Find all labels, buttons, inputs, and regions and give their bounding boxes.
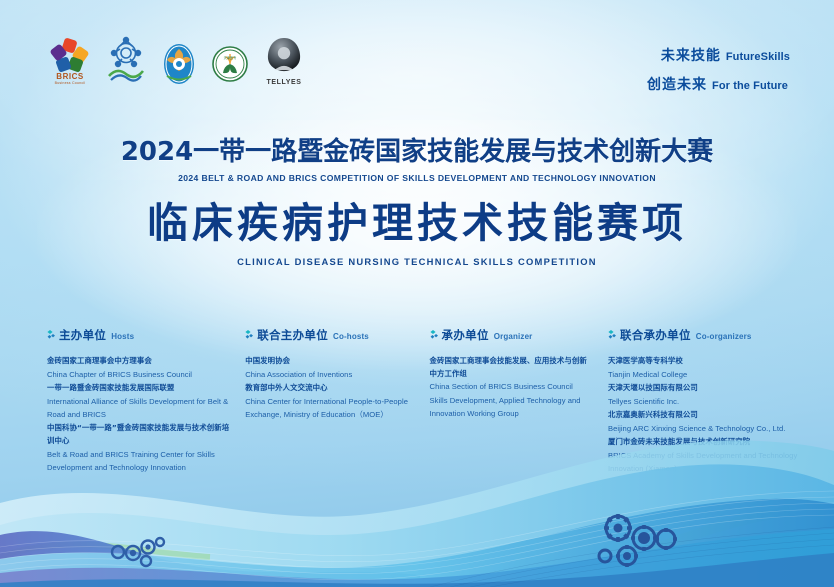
slogan-line-2: 创造未来For the Future	[647, 73, 790, 97]
organizer-heading-en: Hosts	[111, 332, 134, 341]
organizer-name-en: China Chapter of BRICS Business Council	[47, 368, 229, 381]
brics-logo-text: BRICS	[48, 73, 92, 81]
china-association-of-inventions-logo	[160, 42, 198, 86]
slogan-cn-2: 创造未来	[647, 77, 707, 93]
brics-logo-subtext: Business Council	[48, 81, 92, 86]
organizer-item: 教育部中外人文交流中心 China Center for Internation…	[245, 382, 413, 421]
tianjin-medical-college-logo: 天津医专	[211, 42, 249, 86]
diamond-marker-icon	[430, 330, 438, 339]
organizer-column-coorganizers: 联合承办单位 Co-organizers 天津医学高等专科学校 Tianjin …	[608, 327, 806, 476]
organizer-heading-cn: 承办单位	[442, 327, 489, 343]
organizer-heading: 联合主办单位 Co-hosts	[245, 327, 413, 343]
event-title-cn: 临床疾病护理技术技能赛项	[0, 201, 834, 246]
organizer-item: 厦门市金砖未来技能发展与技术创新研究院 BRICS Academy of Ski…	[608, 436, 806, 475]
slogan-cn-1: 未来技能	[661, 48, 721, 64]
organizer-name-en: Tellyes Scientific Inc.	[608, 395, 806, 408]
organizer-heading: 主办单位 Hosts	[47, 327, 229, 343]
organizer-heading: 联合承办单位 Co-organizers	[608, 327, 806, 343]
organizer-column-cohosts: 联合主办单位 Co-hosts 中国发明协会 China Association…	[245, 327, 429, 476]
organizer-heading-cn: 联合主办单位	[257, 327, 328, 343]
slogan-en-1: FutureSkills	[726, 51, 790, 63]
poster-canvas: BRICS Business Council	[0, 0, 834, 587]
organizer-name-cn: 教育部中外人文交流中心	[245, 382, 413, 395]
svg-text:天津医专: 天津医专	[224, 55, 237, 60]
organizer-name-en: International Alliance of Skills Develop…	[47, 395, 229, 421]
international-alliance-logo	[105, 36, 147, 86]
organizer-heading-cn: 联合承办单位	[620, 327, 691, 343]
organizer-heading-en: Organizer	[494, 332, 533, 341]
organizer-name-en: China Section of BRICS Business Council …	[430, 380, 592, 420]
slogan-en-2: For the Future	[712, 80, 788, 92]
organizer-item: 金砖国家工商理事会技能发展、应用技术与创新中方工作组 China Section…	[430, 355, 592, 420]
logo-row: BRICS Business Council	[48, 36, 306, 86]
organizer-name-cn: 天津天堰以技国际有限公司	[608, 382, 806, 395]
organizer-item: 金砖国家工商理事会中方理事会 China Chapter of BRICS Bu…	[47, 355, 229, 381]
organizer-name-cn: 厦门市金砖未来技能发展与技术创新研究院	[608, 436, 806, 449]
gear-cluster-left	[108, 533, 178, 578]
tellyes-logo: TELLYES	[262, 37, 306, 86]
organizer-item: 北京嘉奥新兴科技有限公司 Beijing ARC Xinxing Science…	[608, 409, 806, 435]
organizer-name-en: China Center for International People-to…	[245, 395, 413, 421]
organizer-name-en: BRICS Academy of Skills Development and …	[608, 449, 806, 475]
brics-business-council-logo: BRICS Business Council	[48, 39, 92, 86]
gear-cluster-right	[594, 512, 679, 579]
organizer-name-cn: 一带一路暨金砖国家技能发展国际联盟	[47, 382, 229, 395]
tellyes-logo-text: TELLYES	[262, 79, 306, 86]
organizer-item: 天津医学高等专科学校 Tianjin Medical College	[608, 355, 806, 381]
organizer-name-cn: 中国发明协会	[245, 355, 413, 368]
organizer-name-cn: 天津医学高等专科学校	[608, 355, 806, 368]
brics-star-icon	[52, 39, 88, 72]
organizer-name-en: Beijing ARC Xinxing Science & Technology…	[608, 422, 806, 435]
organizer-columns: 主办单位 Hosts 金砖国家工商理事会中方理事会 China Chapter …	[47, 327, 806, 476]
diamond-marker-icon	[608, 330, 616, 339]
organizer-name-cn: 金砖国家工商理事会技能发展、应用技术与创新中方工作组	[430, 355, 592, 380]
organizer-heading-en: Co-hosts	[333, 332, 369, 341]
organizer-name-en: Belt & Road and BRICS Training Center fo…	[47, 448, 229, 474]
organizer-column-organizer: 承办单位 Organizer 金砖国家工商理事会技能发展、应用技术与创新中方工作…	[430, 327, 608, 476]
organizer-name-en: China Association of Inventions	[245, 368, 413, 381]
organizer-name-cn: 金砖国家工商理事会中方理事会	[47, 355, 229, 368]
diamond-marker-icon	[47, 330, 55, 339]
competition-title-cn: 2024一带一路暨金砖国家技能发展与技术创新大赛	[0, 138, 834, 168]
organizer-heading: 承办单位 Organizer	[430, 327, 592, 343]
event-title-en: CLINICAL DISEASE NURSING TECHNICAL SKILL…	[0, 256, 834, 267]
organizer-column-hosts: 主办单位 Hosts 金砖国家工商理事会中方理事会 China Chapter …	[47, 327, 245, 476]
organizer-item: 一带一路暨金砖国家技能发展国际联盟 International Alliance…	[47, 382, 229, 421]
competition-title-en: 2024 BELT & ROAD AND BRICS COMPETITION O…	[0, 173, 834, 183]
organizer-item: 天津天堰以技国际有限公司 Tellyes Scientific Inc.	[608, 382, 806, 408]
slogan-block: 未来技能FutureSkills 创造未来For the Future	[647, 44, 790, 97]
organizer-item: 中国科协“一带一路”暨金砖国家技能发展与技术创新培训中心 Belt & Road…	[47, 422, 229, 474]
organizer-name-cn: 北京嘉奥新兴科技有限公司	[608, 409, 806, 422]
diamond-marker-icon	[245, 330, 253, 339]
organizer-heading-en: Co-organizers	[696, 332, 752, 341]
organizer-heading-cn: 主办单位	[59, 327, 106, 343]
organizer-name-en: Tianjin Medical College	[608, 368, 806, 381]
organizer-name-cn: 中国科协“一带一路”暨金砖国家技能发展与技术创新培训中心	[47, 422, 229, 447]
title-block: 2024一带一路暨金砖国家技能发展与技术创新大赛 2024 BELT & ROA…	[0, 138, 834, 267]
slogan-line-1: 未来技能FutureSkills	[647, 44, 790, 68]
organizer-item: 中国发明协会 China Association of Inventions	[245, 355, 413, 381]
